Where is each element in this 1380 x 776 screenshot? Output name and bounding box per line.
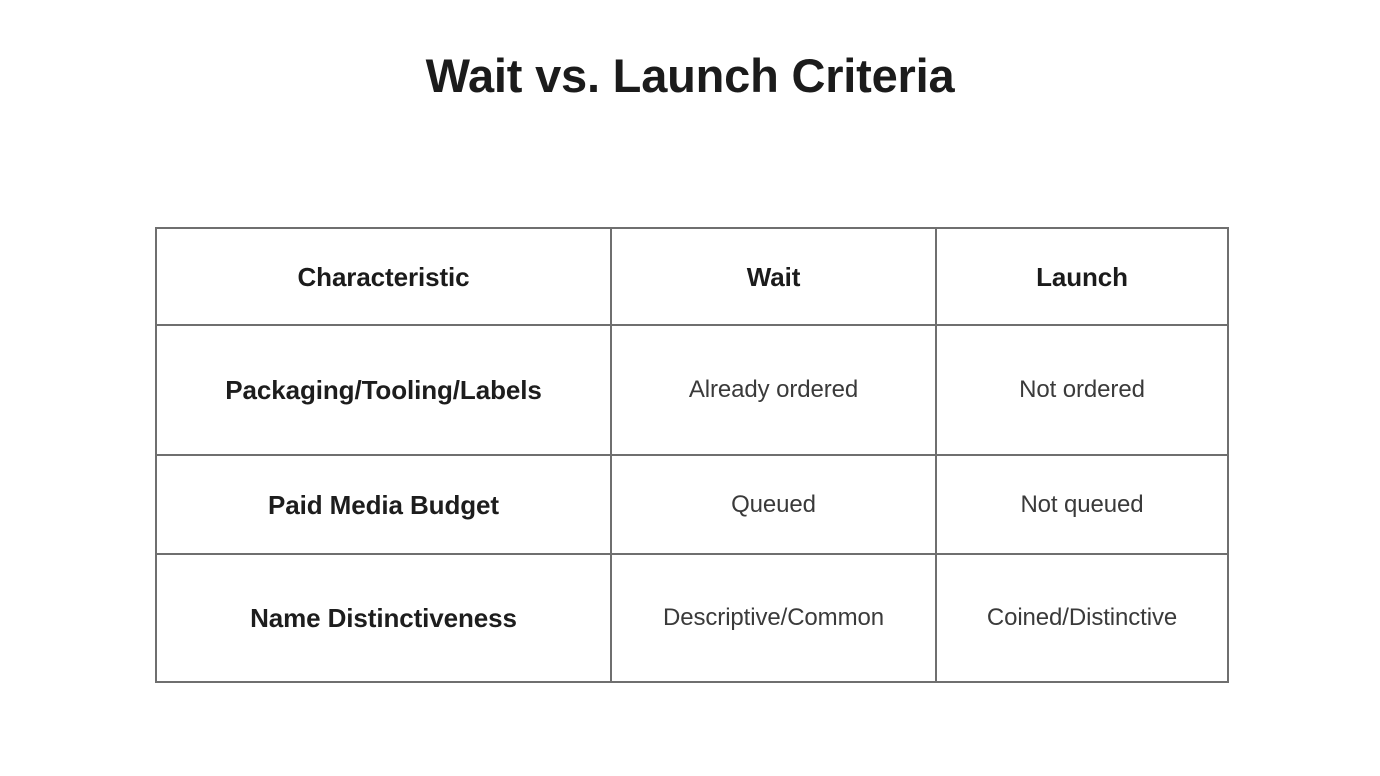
column-header-wait: Wait bbox=[611, 228, 936, 325]
table-header-row: Characteristic Wait Launch bbox=[156, 228, 1228, 325]
table-row: Name Distinctiveness Descriptive/Common … bbox=[156, 554, 1228, 682]
column-header-characteristic: Characteristic bbox=[156, 228, 611, 325]
cell-characteristic: Paid Media Budget bbox=[156, 455, 611, 554]
cell-launch: Not queued bbox=[936, 455, 1228, 554]
cell-wait: Descriptive/Common bbox=[611, 554, 936, 682]
column-header-launch: Launch bbox=[936, 228, 1228, 325]
wait-vs-launch-criteria-table: Characteristic Wait Launch Packaging/Too… bbox=[155, 227, 1229, 683]
cell-wait: Queued bbox=[611, 455, 936, 554]
cell-characteristic: Name Distinctiveness bbox=[156, 554, 611, 682]
page-title: Wait vs. Launch Criteria bbox=[0, 47, 1380, 105]
cell-characteristic: Packaging/Tooling/Labels bbox=[156, 325, 611, 455]
table-header: Characteristic Wait Launch bbox=[156, 228, 1228, 325]
slide-canvas: Wait vs. Launch Criteria Characteristic … bbox=[0, 0, 1380, 776]
criteria-table-container: Characteristic Wait Launch Packaging/Too… bbox=[155, 227, 1227, 681]
cell-launch: Coined/Distinctive bbox=[936, 554, 1228, 682]
table-row: Packaging/Tooling/Labels Already ordered… bbox=[156, 325, 1228, 455]
cell-wait: Already ordered bbox=[611, 325, 936, 455]
table-row: Paid Media Budget Queued Not queued bbox=[156, 455, 1228, 554]
table-body: Packaging/Tooling/Labels Already ordered… bbox=[156, 325, 1228, 682]
cell-launch: Not ordered bbox=[936, 325, 1228, 455]
